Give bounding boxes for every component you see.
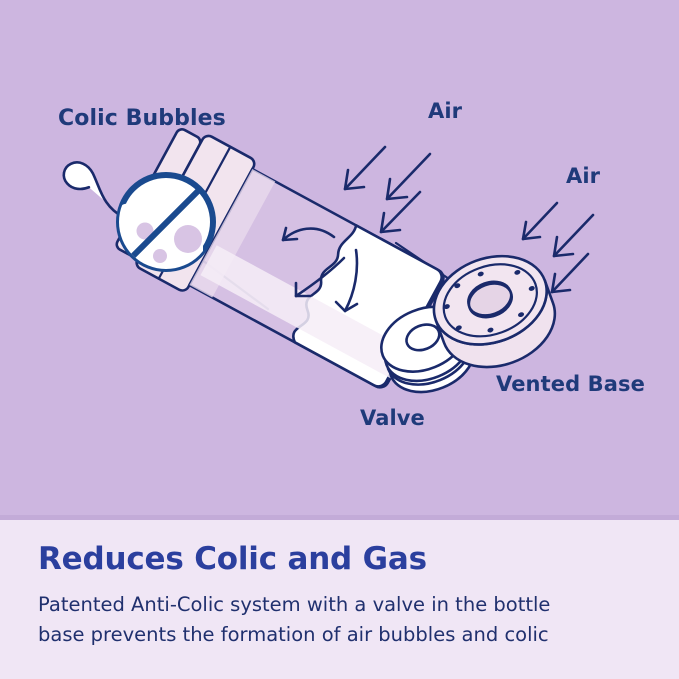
label-valve: Valve: [360, 406, 425, 430]
label-air-right: Air: [566, 164, 600, 188]
bubble-tiny: [153, 249, 167, 263]
caption-panel: Reduces Colic and Gas Patented Anti-Coli…: [0, 520, 679, 679]
headline: Reduces Colic and Gas: [38, 541, 427, 577]
air-arrow-v1: [523, 203, 557, 239]
label-vented-base: Vented Base: [496, 372, 645, 396]
label-colic-bubbles: Colic Bubbles: [58, 106, 226, 131]
body-line-1: Patented Anti-Colic system with a valve …: [38, 590, 653, 620]
body-copy: Patented Anti-Colic system with a valve …: [38, 590, 653, 649]
air-arrow-v2: [554, 215, 593, 256]
anti-colic-bottle-illustration: [0, 0, 679, 515]
air-arrow-v3: [552, 254, 588, 292]
bubble-large: [174, 225, 202, 253]
air-arrow-b2: [387, 154, 430, 199]
illustration-panel: Colic Bubbles Air Air Valve Vented Base: [0, 0, 679, 515]
body-line-2: base prevents the formation of air bubbl…: [38, 620, 653, 650]
product-feature-card: Colic Bubbles Air Air Valve Vented Base …: [0, 0, 679, 679]
air-arrows-bottle: [345, 147, 430, 232]
air-arrow-b1: [345, 147, 385, 189]
label-air-top: Air: [428, 99, 462, 123]
